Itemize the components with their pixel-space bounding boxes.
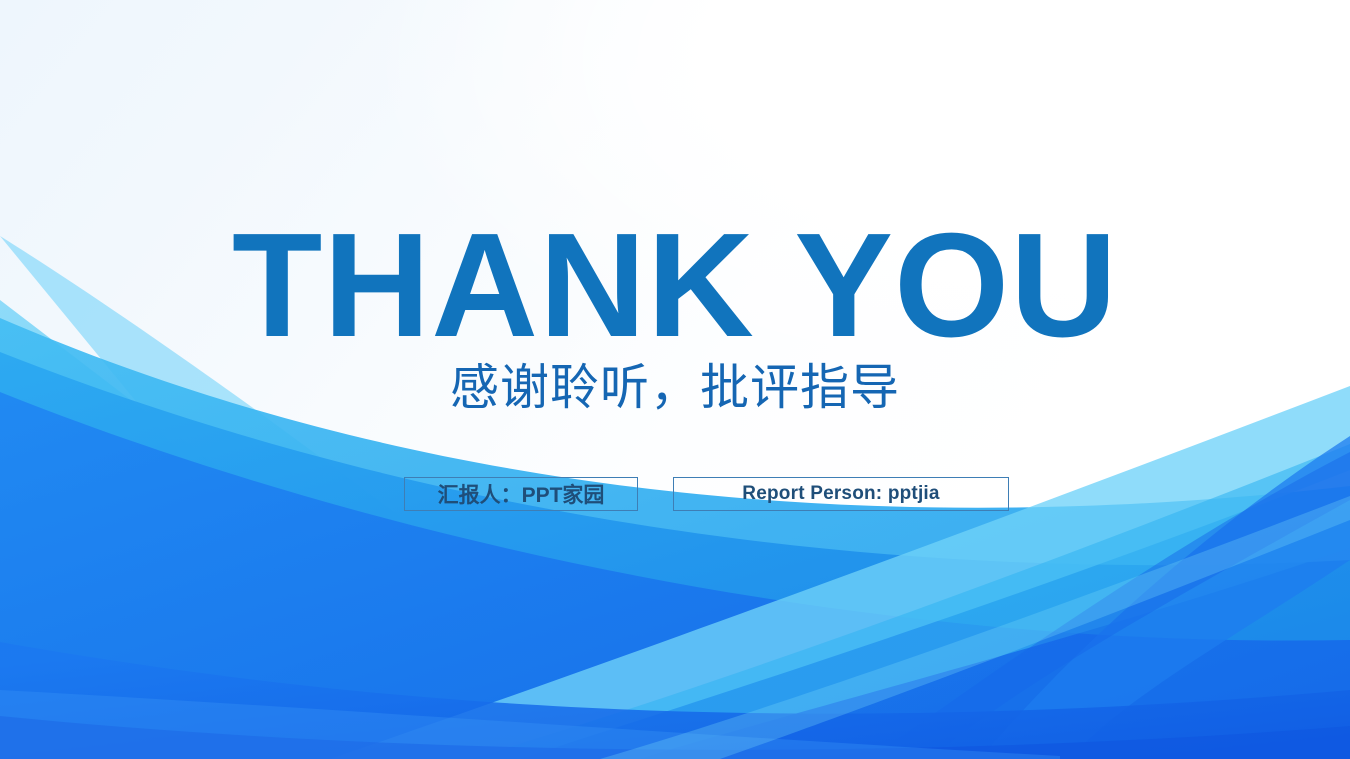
presenter-label-row: 汇报人：PPT家园 Report Person: pptjia	[404, 477, 1009, 511]
page-title: THANK YOU	[0, 212, 1350, 360]
thank-you-slide: THANK YOU 感谢聆听，批评指导 汇报人：PPT家园 Report Per…	[0, 0, 1350, 759]
presenter-label-en: Report Person: pptjia	[673, 477, 1009, 511]
presenter-label-cn: 汇报人：PPT家园	[404, 477, 638, 511]
subtitle: 感谢聆听，批评指导	[0, 361, 1350, 415]
